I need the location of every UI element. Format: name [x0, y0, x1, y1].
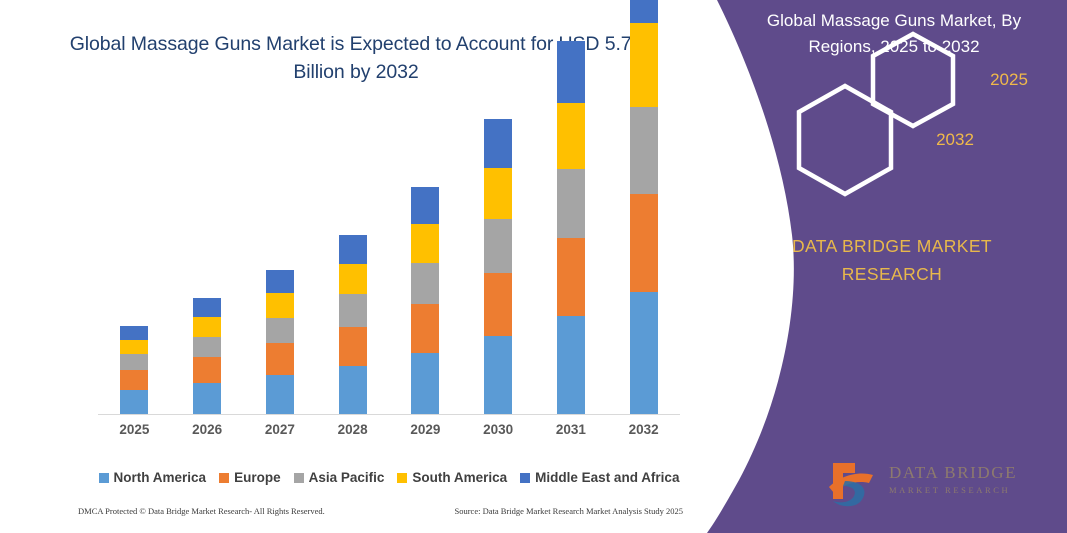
legend-item[interactable]: South America — [397, 470, 507, 485]
bar-segment — [193, 357, 221, 382]
bar-2025 — [120, 326, 148, 414]
x-label-2030: 2030 — [468, 422, 528, 437]
chart-panel: Global Massage Guns Market is Expected t… — [0, 0, 712, 533]
bar-segment — [193, 298, 221, 317]
bar-segment — [193, 337, 221, 358]
legend-swatch-icon — [219, 473, 229, 483]
x-label-2031: 2031 — [541, 422, 601, 437]
bar-segment — [193, 317, 221, 337]
bar-segment — [339, 327, 367, 366]
legend-swatch-icon — [520, 473, 530, 483]
legend-item[interactable]: North America — [99, 470, 207, 485]
bar-segment — [411, 263, 439, 304]
bar-segment — [339, 235, 367, 264]
legend-item[interactable]: Europe — [219, 470, 281, 485]
legend-label: South America — [412, 470, 507, 485]
footer-source: Source: Data Bridge Market Research Mark… — [454, 506, 683, 516]
bar-segment — [557, 103, 585, 169]
bar-segment — [630, 23, 658, 107]
bar-segment — [484, 168, 512, 219]
bar-segment — [411, 304, 439, 353]
hexagon-2032-label: 2032 — [900, 130, 1010, 150]
chart-plot-area — [98, 120, 680, 415]
x-label-2027: 2027 — [250, 422, 310, 437]
bar-segment — [484, 273, 512, 336]
brand-panel: Global Massage Guns Market, By Regions, … — [687, 0, 1067, 533]
hexagon-badge-2032: 2032 — [790, 80, 900, 200]
bar-2026 — [193, 298, 221, 414]
x-axis-line — [98, 414, 680, 415]
bar-segment — [630, 292, 658, 415]
bar-segment — [411, 224, 439, 263]
bar-2031 — [557, 41, 585, 414]
hexagon-2032-shape — [790, 80, 900, 200]
bar-segment — [120, 370, 148, 390]
bar-segment — [630, 0, 658, 23]
legend-label: Asia Pacific — [309, 470, 385, 485]
footer: DMCA Protected © Data Bridge Market Rese… — [78, 506, 683, 516]
bar-segment — [484, 219, 512, 273]
logo-wordmark-top: DATA BRIDGE — [889, 463, 1017, 483]
legend-label: North America — [114, 470, 207, 485]
bar-2027 — [266, 270, 294, 414]
x-label-2026: 2026 — [177, 422, 237, 437]
logo-wordmark-bottom: MARKET RESEARCH — [889, 485, 1010, 495]
footer-copyright: DMCA Protected © Data Bridge Market Rese… — [78, 506, 325, 516]
bar-segment — [339, 294, 367, 326]
bar-segment — [484, 119, 512, 168]
legend-swatch-icon — [294, 473, 304, 483]
legend-item[interactable]: Middle East and Africa — [520, 470, 679, 485]
hexagon-2025-label: 2025 — [961, 70, 1057, 90]
legend-swatch-icon — [397, 473, 407, 483]
data-bridge-logo: DATA BRIDGE MARKET RESEARCH — [825, 457, 1025, 513]
infographic-root: Global Massage Guns Market is Expected t… — [0, 0, 1067, 533]
bar-segment — [484, 336, 512, 414]
bar-segment — [120, 326, 148, 340]
bar-segment — [630, 194, 658, 292]
bar-segment — [630, 107, 658, 193]
x-label-2029: 2029 — [395, 422, 455, 437]
bar-segment — [266, 270, 294, 294]
bar-segment — [120, 390, 148, 415]
bar-segment — [411, 353, 439, 414]
bar-segment — [120, 354, 148, 370]
bar-segment — [411, 187, 439, 224]
bar-2029 — [411, 187, 439, 414]
bar-segment — [557, 238, 585, 316]
bar-segment — [266, 293, 294, 318]
x-label-2032: 2032 — [614, 422, 674, 437]
logo-mark-icon — [825, 457, 887, 509]
legend-label: Europe — [234, 470, 281, 485]
bar-2030 — [484, 119, 512, 414]
bar-segment — [557, 169, 585, 238]
bar-segment — [266, 343, 294, 374]
bar-segment — [339, 366, 367, 414]
bar-segment — [339, 264, 367, 294]
bar-segment — [557, 316, 585, 414]
legend-swatch-icon — [99, 473, 109, 483]
x-label-2025: 2025 — [104, 422, 164, 437]
bar-segment — [266, 375, 294, 414]
legend-label: Middle East and Africa — [535, 470, 679, 485]
bar-2028 — [339, 235, 367, 414]
brand-name: DATA BRIDGE MARKET RESEARCH — [742, 232, 1042, 288]
x-label-2028: 2028 — [323, 422, 383, 437]
bar-segment — [120, 340, 148, 355]
bar-segment — [193, 383, 221, 414]
bar-2032 — [630, 0, 658, 414]
chart-legend: North AmericaEuropeAsia PacificSouth Ame… — [98, 470, 680, 485]
bar-segment — [266, 318, 294, 343]
bar-segment — [557, 41, 585, 104]
legend-item[interactable]: Asia Pacific — [294, 470, 385, 485]
x-axis-labels: 20252026202720282029203020312032 — [98, 422, 680, 442]
